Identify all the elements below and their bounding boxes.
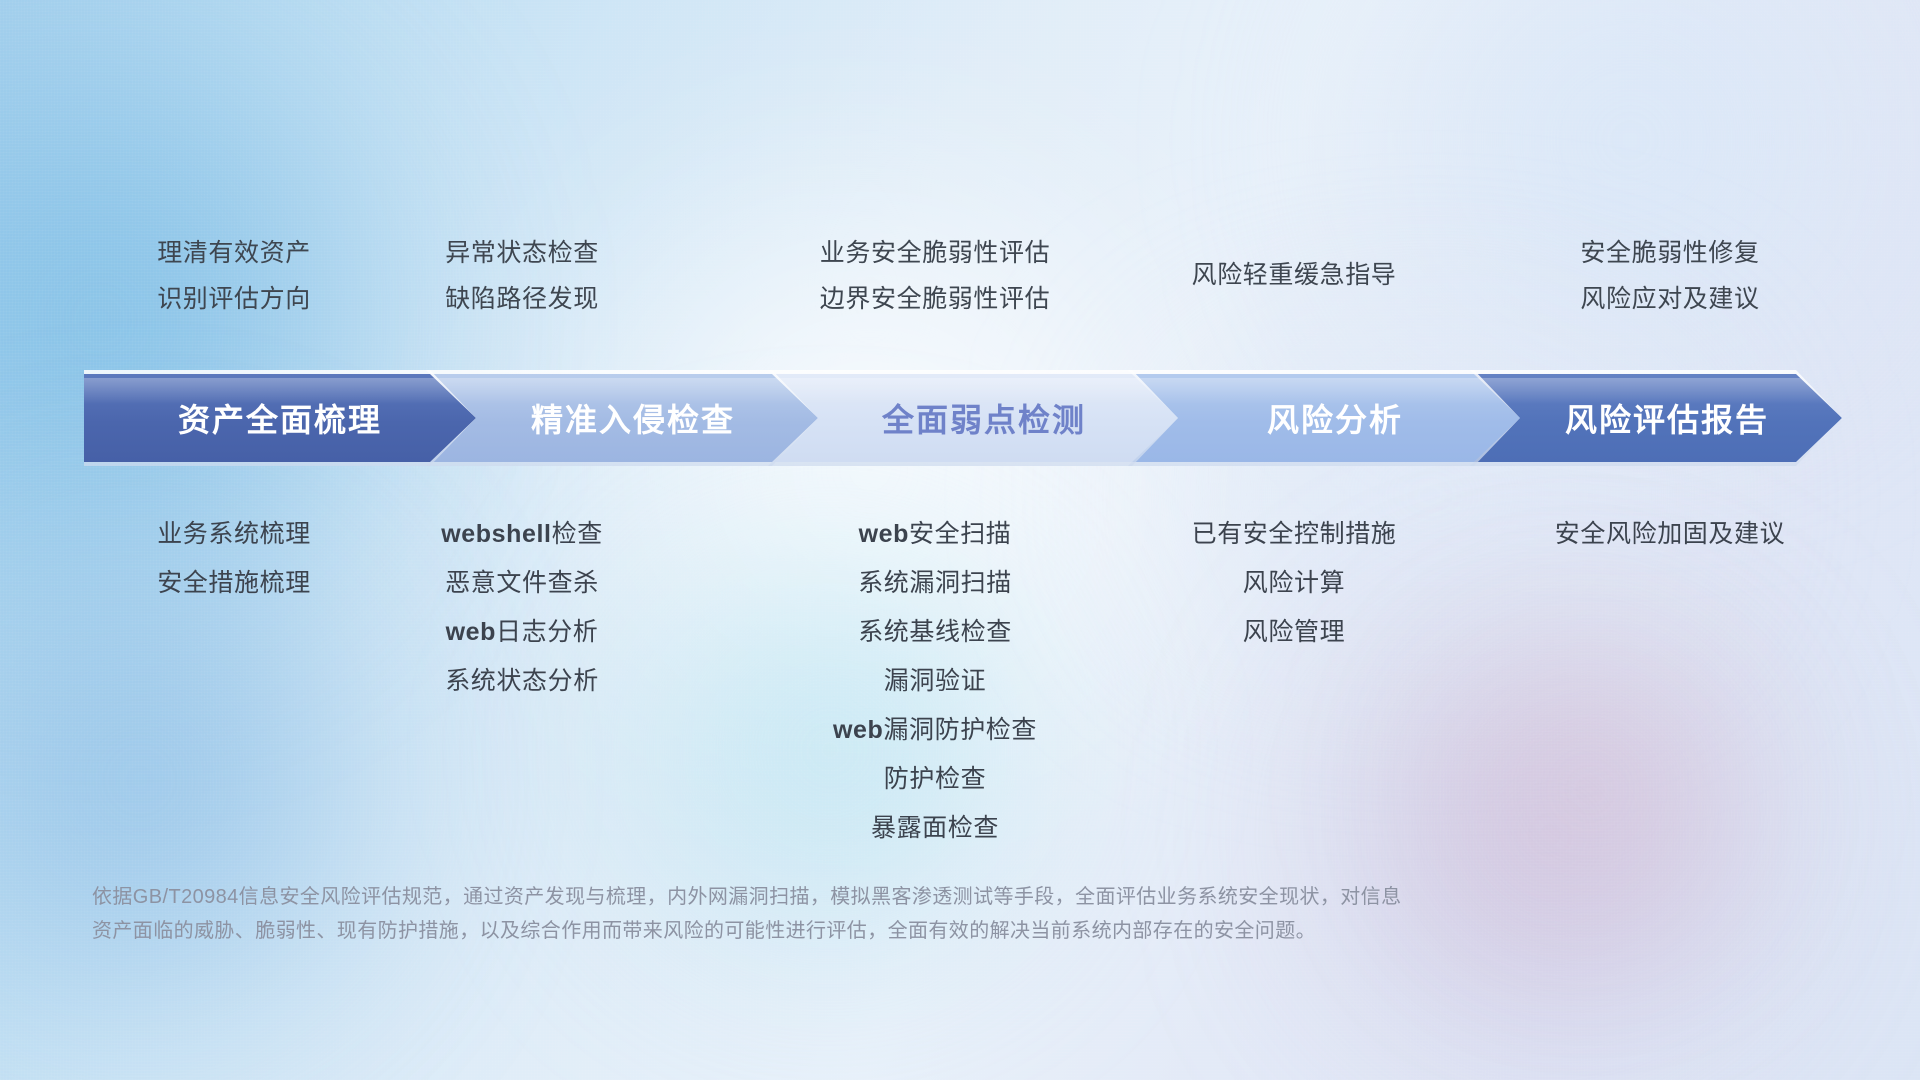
bottom-note: 已有安全控制措施 <box>1144 510 1444 559</box>
top-note: 理清有效资产 <box>84 230 384 276</box>
bottom-note: web安全扫描 <box>770 510 1100 559</box>
bottom-note: 防护检查 <box>770 755 1100 804</box>
bottom-note-text: 检查 <box>552 520 603 548</box>
top-notes-assessment-report: 安全脆弱性修复 风险应对及建议 <box>1505 230 1835 322</box>
bottom-note-emphasis: web <box>859 520 909 548</box>
bottom-notes-risk-analysis: 已有安全控制措施 风险计算 风险管理 <box>1144 510 1444 657</box>
stage-chevron-risk-analysis[interactable]: 风险分析 <box>1128 370 1520 466</box>
bottom-note-text: 系统基线检查 <box>858 618 1012 646</box>
bottom-notes-assessment-report: 安全风险加固及建议 <box>1505 510 1835 559</box>
top-notes-risk-analysis: 风险轻重缓急指导 <box>1144 252 1444 298</box>
bottom-note-text: 风险管理 <box>1243 618 1345 646</box>
bottom-note: 业务系统梳理 <box>84 510 384 559</box>
bottom-note-text: 风险计算 <box>1243 569 1345 597</box>
bottom-note: 系统基线检查 <box>770 608 1100 657</box>
bottom-notes-intrusion-check: webshell检查 恶意文件查杀 web日志分析 系统状态分析 <box>372 510 672 706</box>
top-note: 缺陷路径发现 <box>372 276 672 322</box>
bottom-note: 安全风险加固及建议 <box>1505 510 1835 559</box>
footer-description: 依据GB/T20984信息安全风险评估规范，通过资产发现与梳理，内外网漏洞扫描，… <box>92 880 1732 948</box>
top-note: 识别评估方向 <box>84 276 384 322</box>
bottom-note-text: 暴露面检查 <box>871 814 999 842</box>
bottom-note-text: 安全扫描 <box>909 520 1011 548</box>
top-notes-asset-survey: 理清有效资产 识别评估方向 <box>84 230 384 322</box>
bottom-note-text: 防护检查 <box>884 765 986 793</box>
bottom-note-text: 安全风险加固及建议 <box>1555 520 1785 548</box>
stage-label: 资产全面梳理 <box>178 395 382 441</box>
footer-line: 资产面临的威胁、脆弱性、现有防护措施，以及综合作用而带来风险的可能性进行评估，全… <box>92 914 1732 948</box>
bottom-note: web漏洞防护检查 <box>770 706 1100 755</box>
top-note: 风险轻重缓急指导 <box>1144 252 1444 298</box>
bottom-note-text: 业务系统梳理 <box>157 520 311 548</box>
bottom-note-emphasis: web <box>446 618 496 646</box>
top-note: 异常状态检查 <box>372 230 672 276</box>
top-note: 风险应对及建议 <box>1505 276 1835 322</box>
bottom-note-emphasis: webshell <box>441 520 551 548</box>
bottom-note: 恶意文件查杀 <box>372 559 672 608</box>
bottom-note: 风险管理 <box>1144 608 1444 657</box>
bottom-note: 漏洞验证 <box>770 657 1100 706</box>
footer-line: 依据GB/T20984信息安全风险评估规范，通过资产发现与梳理，内外网漏洞扫描，… <box>92 880 1732 914</box>
slide-canvas: 理清有效资产 识别评估方向 异常状态检查 缺陷路径发现 业务安全脆弱性评估 边界… <box>0 0 1920 1080</box>
process-flow-banner: 资产全面梳理 精准入侵检查 全面弱点检测 <box>84 370 1842 466</box>
bottom-note-text: 日志分析 <box>496 618 598 646</box>
top-note: 安全脆弱性修复 <box>1505 230 1835 276</box>
stage-label: 全面弱点检测 <box>882 395 1086 441</box>
bottom-note-text: 系统状态分析 <box>445 667 599 695</box>
bottom-note-text: 恶意文件查杀 <box>445 569 599 597</box>
bottom-note: 风险计算 <box>1144 559 1444 608</box>
stage-chevron-asset-survey[interactable]: 资产全面梳理 <box>84 370 476 466</box>
bottom-note: 暴露面检查 <box>770 804 1100 853</box>
stage-label: 风险分析 <box>1267 395 1403 441</box>
bottom-note: 系统漏洞扫描 <box>770 559 1100 608</box>
top-note: 边界安全脆弱性评估 <box>770 276 1100 322</box>
bottom-note: web日志分析 <box>372 608 672 657</box>
top-note: 业务安全脆弱性评估 <box>770 230 1100 276</box>
stage-chevron-intrusion-check[interactable]: 精准入侵检查 <box>426 370 818 466</box>
background-blob-light-top-right <box>1230 0 1920 420</box>
bottom-notes-weakness-detection: web安全扫描 系统漏洞扫描 系统基线检查 漏洞验证 web漏洞防护检查 防护检… <box>770 510 1100 853</box>
stage-chevron-assessment-report[interactable]: 风险评估报告 <box>1470 370 1842 466</box>
bottom-notes-asset-survey: 业务系统梳理 安全措施梳理 <box>84 510 384 608</box>
stage-label: 风险评估报告 <box>1565 395 1769 441</box>
bottom-note: 安全措施梳理 <box>84 559 384 608</box>
bottom-note: webshell检查 <box>372 510 672 559</box>
stage-chevron-weakness-detection[interactable]: 全面弱点检测 <box>768 370 1178 466</box>
bottom-note-text: 系统漏洞扫描 <box>858 569 1012 597</box>
stage-label: 精准入侵检查 <box>531 395 735 441</box>
top-notes-intrusion-check: 异常状态检查 缺陷路径发现 <box>372 230 672 322</box>
bottom-note-text: 安全措施梳理 <box>157 569 311 597</box>
bottom-note-emphasis: web <box>833 716 883 744</box>
bottom-note-text: 已有安全控制措施 <box>1192 520 1397 548</box>
top-notes-weakness-detection: 业务安全脆弱性评估 边界安全脆弱性评估 <box>770 230 1100 322</box>
background-blob-lavender <box>1230 600 1870 1070</box>
bottom-note-text: 漏洞防护检查 <box>883 716 1037 744</box>
bottom-note-text: 漏洞验证 <box>884 667 986 695</box>
bottom-note: 系统状态分析 <box>372 657 672 706</box>
